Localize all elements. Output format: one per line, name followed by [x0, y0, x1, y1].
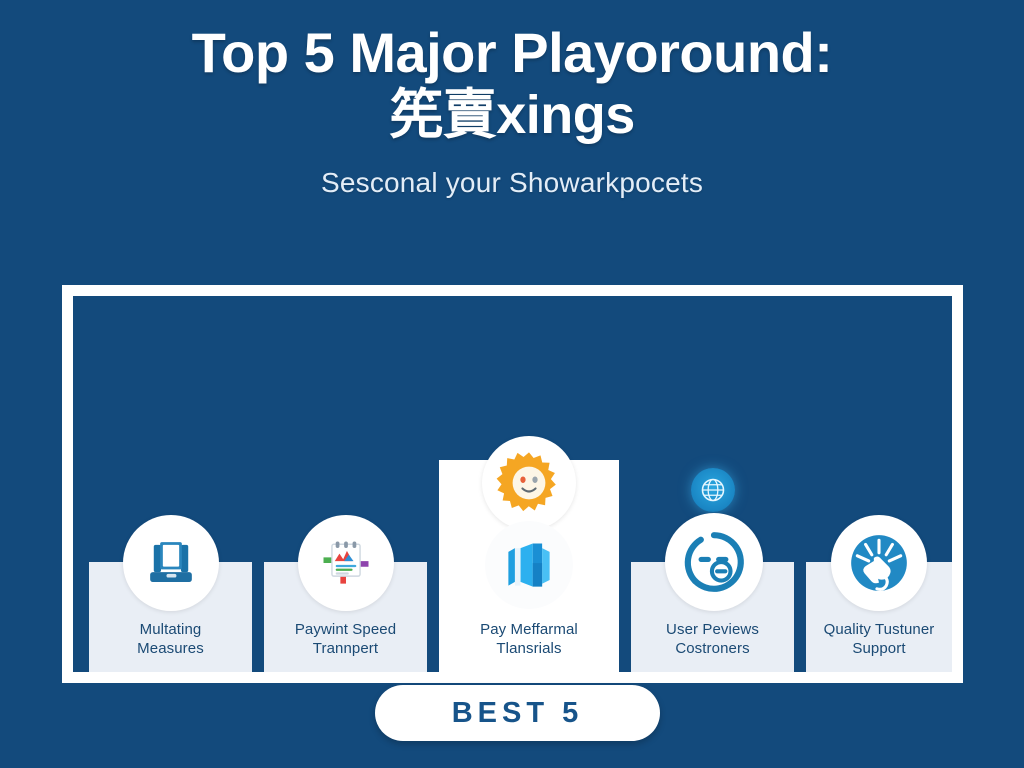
bar-label-2-line-1: Paywint Speed [264, 620, 427, 639]
best-5-badge[interactable]: BEST 5 [375, 685, 660, 741]
title-line-2: 筅賣xings [0, 85, 1024, 145]
bar-label-3-line-2: Tlansrials [439, 639, 619, 658]
poster-subtitle: Sesconal your Showarkpocets [0, 167, 1024, 199]
review-face-icon [665, 513, 763, 611]
bar-label-5: Quality Tustuner Support [806, 620, 952, 672]
bar-label-4-line-2: Costroners [631, 639, 794, 658]
bar-group: Multating Measures [73, 296, 952, 672]
bar-label-1-line-2: Measures [89, 639, 252, 658]
blue-boxes-icon [485, 521, 573, 609]
support-hand-icon [831, 515, 927, 611]
bar-label-3-line-1: Pay Meffarmal [439, 620, 619, 639]
poster-root: Top 5 Major Playoround: 筅賣xings Sesconal… [0, 0, 1024, 768]
bar-label-5-line-1: Quality Tustuner [806, 620, 952, 639]
bar-label-2-line-2: Trannpert [264, 639, 427, 658]
chart-report-icon [298, 515, 394, 611]
bar-label-5-line-2: Support [806, 639, 952, 658]
best-5-badge-label: BEST 5 [452, 697, 584, 730]
chart-plot-area: Multating Measures [73, 296, 952, 672]
bar-label-1-line-1: Multating [89, 620, 252, 639]
bar-label-4: User Peviews Costroners [631, 620, 794, 672]
globe-icon [691, 468, 735, 512]
chart-frame: Multating Measures [62, 285, 963, 683]
smiling-sun-icon [482, 436, 576, 530]
title-line-1: Top 5 Major Playoround: [0, 22, 1024, 85]
bar-label-1: Multating Measures [89, 620, 252, 672]
desktop-monitor-icon [123, 515, 219, 611]
bar-label-3: Pay Meffarmal Tlansrials [439, 620, 619, 672]
bar-label-2: Paywint Speed Trannpert [264, 620, 427, 672]
poster-header: Top 5 Major Playoround: 筅賣xings Sesconal… [0, 22, 1024, 199]
bar-label-4-line-1: User Peviews [631, 620, 794, 639]
